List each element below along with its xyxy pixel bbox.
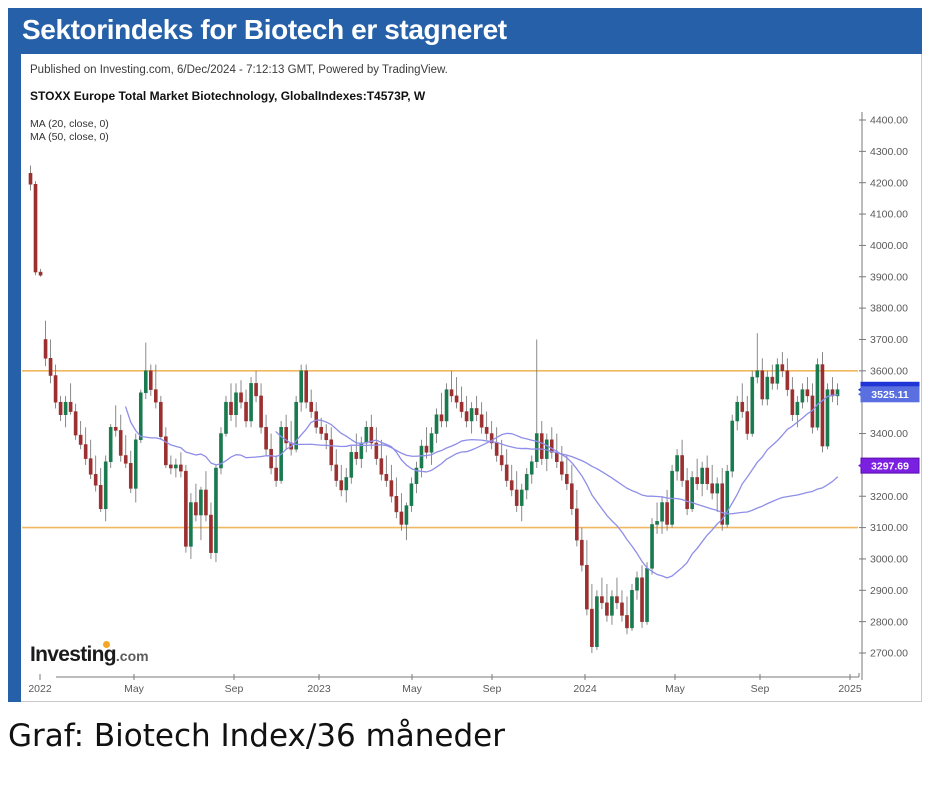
ma20-badge-label: 3525.11 — [871, 389, 909, 401]
time-tick-label: 2024 — [573, 683, 597, 695]
investing-watermark: Investing.com — [30, 643, 149, 667]
price-tick-label: 2800.00 — [870, 616, 908, 628]
price-tick-label: 3200.00 — [870, 491, 908, 503]
figure-caption: Graf: Biotech Index/36 måneder — [8, 718, 505, 754]
plot-area[interactable] — [22, 108, 858, 673]
left-accent-bar — [8, 8, 21, 702]
time-tick-label: 2025 — [838, 683, 862, 695]
price-tick-label: 3800.00 — [870, 303, 908, 315]
price-axis: 4400.004300.004200.004100.004000.003900.… — [858, 108, 922, 686]
published-line: Published on Investing.com, 6/Dec/2024 -… — [30, 64, 448, 76]
time-axis: 2022MaySep2023MaySep2024MaySep2025 — [16, 673, 866, 699]
price-tick-label: 3700.00 — [870, 334, 908, 346]
price-axis-svg: 4400.004300.004200.004100.004000.003900.… — [858, 108, 922, 686]
ma20-badge[interactable]: 3525.11 — [858, 387, 919, 402]
time-tick-label: 2022 — [28, 683, 52, 695]
price-tick-label: 3900.00 — [870, 271, 908, 283]
price-tick-label: 4000.00 — [870, 240, 908, 252]
time-tick-label: Sep — [483, 683, 502, 695]
price-tick-label: 4100.00 — [870, 209, 908, 221]
screenshot-root: Sektorindeks for Biotech er stagneret Pu… — [0, 0, 935, 804]
time-tick-label: Sep — [751, 683, 770, 695]
watermark-suffix: .com — [116, 648, 149, 664]
price-tick-label: 4200.00 — [870, 177, 908, 189]
price-tick-label: 3000.00 — [870, 554, 908, 566]
price-tick-label: 3100.00 — [870, 522, 908, 534]
time-tick-label: May — [402, 683, 423, 695]
time-axis-svg: 2022MaySep2023MaySep2024MaySep2025 — [16, 673, 866, 699]
page-title: Sektorindeks for Biotech er stagneret — [22, 14, 507, 46]
time-tick-label: Sep — [225, 683, 244, 695]
candle-group — [29, 165, 839, 653]
price-tick-label: 3600.00 — [870, 365, 908, 377]
ma50-badge[interactable]: 3297.69 — [858, 458, 919, 473]
candlestick-plot[interactable] — [22, 108, 858, 673]
price-tick-label: 3400.00 — [870, 428, 908, 440]
price-tick-label: 4300.00 — [870, 146, 908, 158]
symbol-line: STOXX Europe Total Market Biotechnology,… — [30, 89, 425, 103]
price-tick-label: 2700.00 — [870, 648, 908, 660]
ma50-badge-label: 3297.69 — [871, 460, 909, 472]
price-tick-label: 4400.00 — [870, 115, 908, 127]
watermark-dot-icon — [103, 641, 110, 648]
time-tick-label: May — [665, 683, 686, 695]
price-tick-label: 2900.00 — [870, 585, 908, 597]
time-tick-label: May — [124, 683, 145, 695]
time-tick-label: 2023 — [307, 683, 331, 695]
